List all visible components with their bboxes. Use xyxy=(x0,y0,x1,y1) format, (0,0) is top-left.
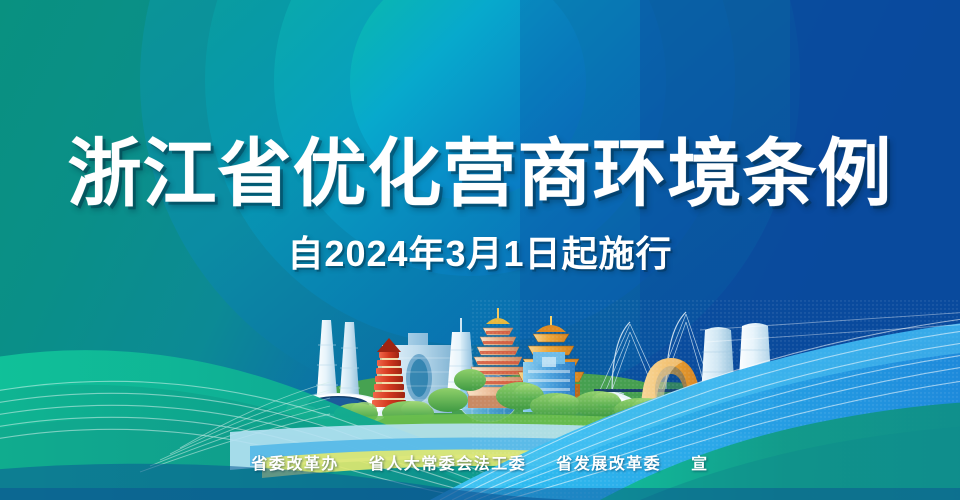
poster-canvas: 浙江省优化营商环境条例 自2024年3月1日起施行 省委改革办 省人大常委会法工… xyxy=(0,0,960,500)
wave-ribbon-layer xyxy=(0,0,960,500)
